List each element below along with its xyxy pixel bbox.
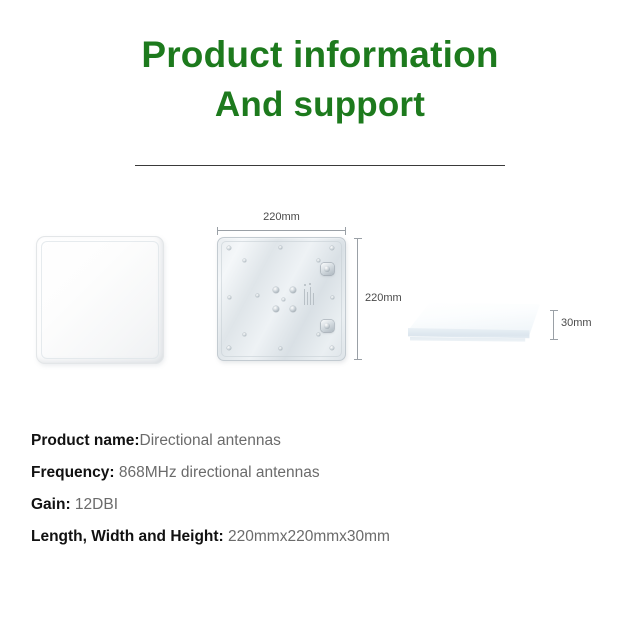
product-image-row: 220mm [0, 195, 640, 395]
plate-rivet [243, 259, 246, 262]
product-info-page: Product information And support 220mm [0, 0, 640, 640]
spec-value-dimensions: 220mmx220mmx30mm [228, 528, 390, 545]
page-title-block: Product information And support [0, 30, 640, 130]
plate-rivet [279, 246, 282, 249]
plate-rivet [282, 298, 285, 301]
spec-value-frequency: 868MHz directional antennas [119, 464, 320, 481]
plate-mount-screw [273, 306, 279, 312]
spec-row-dimensions: Length, Width and Height: 220mmx220mmx30… [31, 521, 611, 553]
antenna-connector-port [321, 320, 334, 332]
plate-mount-screw [290, 287, 296, 293]
spec-label-frequency: Frequency: [31, 464, 119, 481]
plate-rivet [317, 333, 320, 336]
spec-row-product-name: Product name:Directional antennas [31, 425, 611, 457]
panel-side-perspective-view: 30mm [400, 295, 600, 375]
plate-rivet [331, 296, 334, 299]
spec-label-product-name: Product name: [31, 432, 140, 449]
plate-rivet [330, 246, 334, 250]
plate-rivet [227, 346, 231, 350]
dimension-line-thickness [553, 310, 554, 340]
dimension-label-thickness: 30mm [561, 317, 592, 329]
dimension-label-width: 220mm [217, 211, 346, 223]
plate-marking-dot [309, 283, 311, 285]
page-title-line-1: Product information [0, 30, 640, 80]
plate-rivet [227, 246, 231, 250]
plate-rivet [228, 296, 231, 299]
panel-base-edge [410, 337, 538, 345]
spec-label-dimensions: Length, Width and Height: [31, 528, 228, 545]
plate-rivet [279, 347, 282, 350]
plate-mount-screw [273, 287, 279, 293]
plate-rivet [317, 259, 320, 262]
plate-marking [307, 292, 308, 305]
page-title-line-2: And support [0, 80, 640, 130]
plate-marking-dot [304, 284, 306, 286]
antenna-back-plate [217, 237, 346, 361]
spec-label-gain: Gain: [31, 496, 75, 513]
product-spec-list: Product name:Directional antennas Freque… [31, 425, 611, 553]
white-panel-front-view [36, 236, 164, 364]
plate-rivet [330, 346, 334, 350]
panel-side-edge [408, 328, 540, 344]
spec-row-frequency: Frequency: 868MHz directional antennas [31, 457, 611, 489]
spec-value-gain: 12DBI [75, 496, 118, 513]
dimension-label-height: 220mm [365, 292, 402, 304]
metal-back-plate-view: 220mm [210, 205, 410, 385]
dimension-line-height [357, 238, 358, 360]
title-divider-rule [135, 165, 505, 166]
plate-marking [304, 289, 305, 305]
plate-rivet [243, 333, 246, 336]
spec-row-gain: Gain: 12DBI [31, 489, 611, 521]
dimension-line-width [217, 230, 346, 231]
spec-value-product-name: Directional antennas [140, 432, 281, 449]
plate-marking [313, 293, 314, 305]
antenna-connector-port [321, 263, 334, 275]
plate-marking [310, 287, 311, 305]
plate-mount-screw [290, 306, 296, 312]
plate-rivet [256, 294, 259, 297]
